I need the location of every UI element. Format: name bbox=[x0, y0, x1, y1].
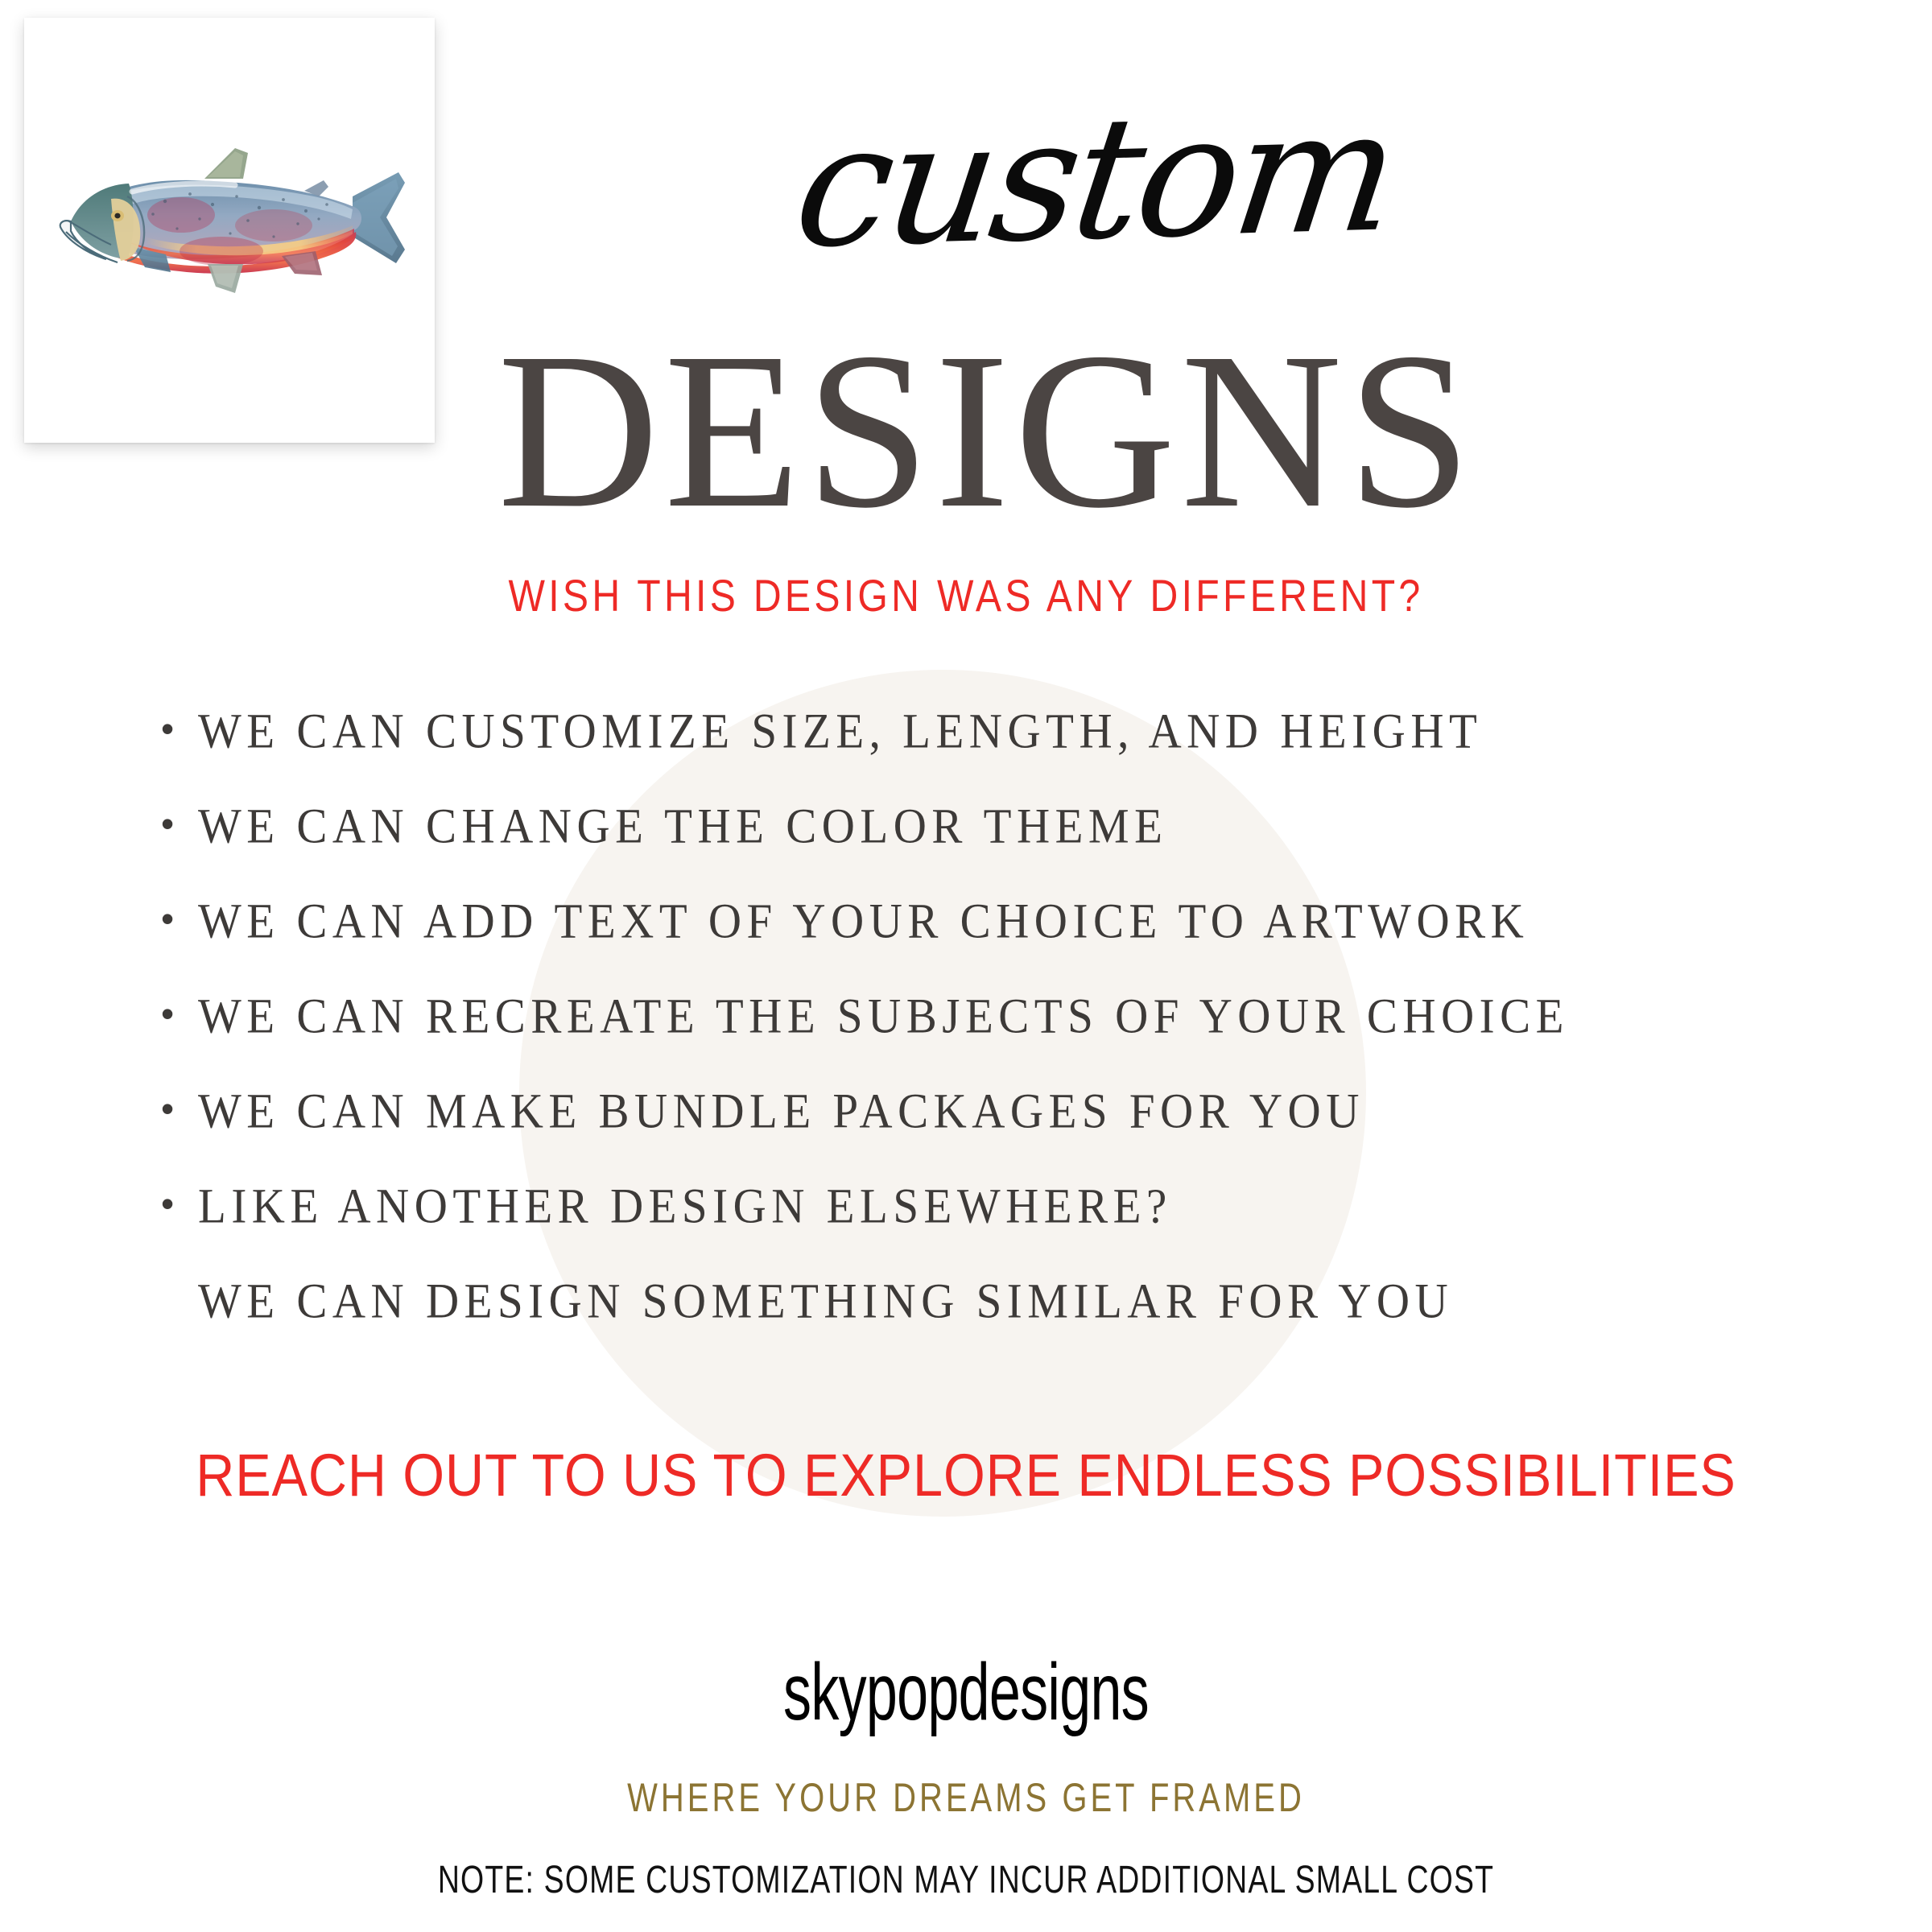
list-item-label: WE CAN CUSTOMIZE SIZE, LENGTH, AND HEIGH… bbox=[198, 707, 1482, 757]
list-item: • WE CAN CUSTOMIZE SIZE, LENGTH, AND HEI… bbox=[0, 708, 1932, 803]
bullet-dot-icon: • bbox=[161, 805, 198, 842]
capability-list: • WE CAN CUSTOMIZE SIZE, LENGTH, AND HEI… bbox=[0, 708, 1932, 1373]
list-item-label: WE CAN DESIGN SOMETHING SIMILAR FOR YOU bbox=[198, 1277, 1453, 1327]
list-item-label: WE CAN RECREATE THE SUBJECTS OF YOUR CHO… bbox=[198, 992, 1569, 1042]
list-item-label: LIKE ANOTHER DESIGN ELSEWHERE? bbox=[198, 1182, 1172, 1232]
call-to-action-text: REACH OUT TO US TO EXPLORE ENDLESS POSSI… bbox=[97, 1446, 1835, 1505]
poster-canvas: custom DESIGNS WISH THIS DESIGN WAS ANY … bbox=[0, 0, 1932, 1932]
list-item-label: WE CAN CHANGE THE COLOR THEME bbox=[198, 802, 1167, 852]
list-item: • WE CAN MAKE BUNDLE PACKAGES FOR YOU bbox=[0, 1088, 1932, 1183]
watercolor-salmon-fish-icon bbox=[24, 18, 435, 443]
brand-wordmark: skypopdesigns bbox=[290, 1652, 1642, 1732]
list-item: • WE CAN RECREATE THE SUBJECTS OF YOUR C… bbox=[0, 993, 1932, 1088]
bullet-dot-icon: • bbox=[161, 710, 198, 747]
list-item: • WE CAN ADD TEXT OF YOUR CHOICE TO ARTW… bbox=[0, 898, 1932, 993]
bullet-dot-icon: • bbox=[161, 900, 198, 937]
bullet-dot-icon: • bbox=[161, 995, 198, 1032]
bullet-dot-icon: • bbox=[161, 1185, 198, 1222]
footnote-disclaimer: NOTE: SOME CUSTOMIZATION MAY INCUR ADDIT… bbox=[213, 1861, 1719, 1900]
list-item-continuation: • WE CAN DESIGN SOMETHING SIMILAR FOR YO… bbox=[0, 1278, 1932, 1373]
list-item-label: WE CAN ADD TEXT OF YOUR CHOICE TO ARTWOR… bbox=[198, 897, 1529, 947]
list-item: • WE CAN CHANGE THE COLOR THEME bbox=[0, 803, 1932, 898]
list-item-label: WE CAN MAKE BUNDLE PACKAGES FOR YOU bbox=[198, 1087, 1364, 1137]
brand-tagline: WHERE YOUR DREAMS GET FRAMED bbox=[193, 1777, 1739, 1818]
bullet-dot-icon: • bbox=[161, 1090, 198, 1127]
subtitle-question: WISH THIS DESIGN WAS ANY DIFFERENT? bbox=[135, 573, 1797, 618]
artwork-card[interactable] bbox=[24, 18, 435, 443]
list-item: • LIKE ANOTHER DESIGN ELSEWHERE? bbox=[0, 1183, 1932, 1278]
